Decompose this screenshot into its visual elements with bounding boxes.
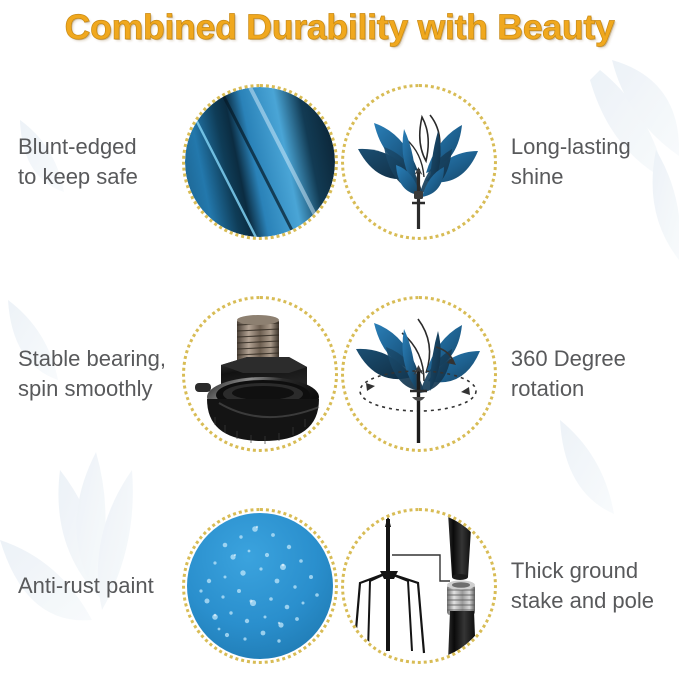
dotted-circle-border <box>341 508 497 664</box>
feature-image-ground-stake-and-pole <box>340 491 499 681</box>
feature-label-stable-bearing: Stable bearing, spin smoothly <box>0 344 180 404</box>
dotted-circle-border <box>182 508 338 664</box>
feature-label-thick-stake-pole: Thick ground stake and pole <box>499 556 679 616</box>
feature-label-360-rotation: 360 Degree rotation <box>499 344 679 404</box>
dotted-circle-border <box>341 296 497 452</box>
dotted-circle-border <box>182 296 338 452</box>
dotted-circle-border <box>341 84 497 240</box>
feature-image-wind-spinner-blue <box>340 67 499 257</box>
feature-label-anti-rust-paint: Anti-rust paint <box>0 571 180 601</box>
page-title: Combined Durability with Beauty <box>65 8 615 48</box>
header: Combined Durability with Beauty <box>0 0 679 56</box>
feature-rows: Blunt-edged to keep safe <box>0 56 679 693</box>
dotted-circle-border <box>182 84 338 240</box>
feature-image-blade-edge-closeup <box>180 67 339 257</box>
feature-row-2: Stable bearing, spin smoothly <box>0 268 679 480</box>
feature-row-1: Blunt-edged to keep safe <box>0 56 679 268</box>
feature-image-wind-spinner-rotation-360 <box>340 279 499 469</box>
feature-row-3: Anti-rust paint <box>0 480 679 692</box>
feature-label-long-lasting-shine: Long-lasting shine <box>499 132 679 192</box>
feature-image-bearing-bolt-closeup <box>180 279 339 469</box>
feature-image-blue-paint-droplets <box>180 491 339 681</box>
feature-label-blunt-edged: Blunt-edged to keep safe <box>0 132 180 192</box>
